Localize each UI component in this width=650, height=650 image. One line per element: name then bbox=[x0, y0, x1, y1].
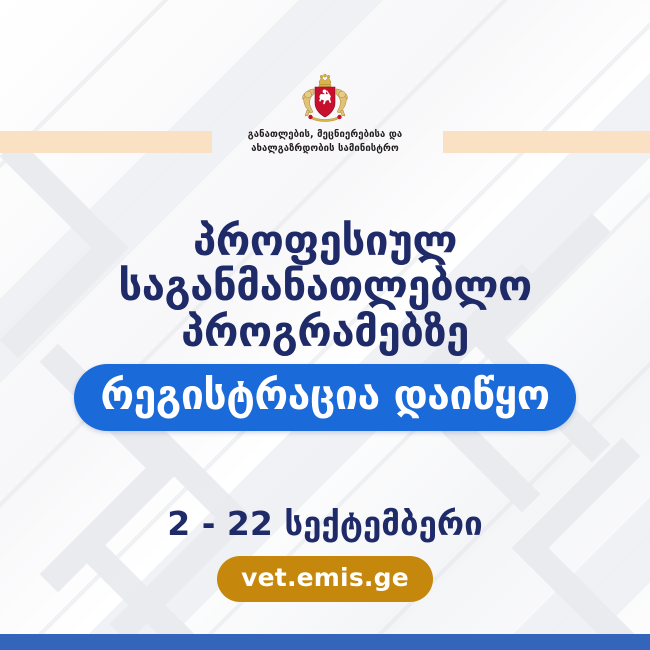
header: განათლების, მეცნიერებისა და ახალგაზრდობი… bbox=[0, 72, 650, 156]
highlight-pill-wrapper: რეგისტრაცია დაიწყო bbox=[0, 364, 650, 431]
website-url-badge[interactable]: vet.emis.ge bbox=[217, 556, 433, 602]
ministry-name: განათლების, მეცნიერებისა და ახალგაზრდობი… bbox=[248, 128, 402, 156]
bottom-accent-bar bbox=[0, 634, 650, 650]
url-pill-wrapper: vet.emis.ge bbox=[0, 556, 650, 602]
poster-canvas: განათლების, მეცნიერებისა და ახალგაზრდობი… bbox=[0, 0, 650, 650]
main-content: პროფესიულ საგანმანათლებლო პროგრამებზე რე… bbox=[0, 218, 650, 602]
headline-text: პროფესიულ საგანმანათლებლო პროგრამებზე bbox=[0, 218, 650, 354]
georgia-coat-of-arms-icon bbox=[297, 72, 353, 124]
registration-open-badge: რეგისტრაცია დაიწყო bbox=[74, 364, 575, 431]
date-range-text: 2 - 22 სექტემბერი bbox=[0, 507, 650, 540]
